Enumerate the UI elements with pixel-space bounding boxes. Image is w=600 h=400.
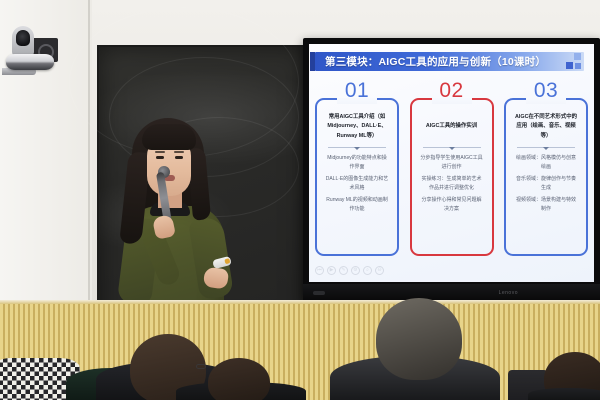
- play-icon[interactable]: ▶: [327, 266, 336, 275]
- card-bullet-list: 分步指导学生使用AIGC工具进行创作 实操练习：生成简单的艺术作品并进行调整优化…: [417, 154, 487, 215]
- card-title: 常用AIGC工具介绍（如Midjourney、DALL·E、Runway ML等…: [322, 112, 392, 142]
- ptz-camera-icon: [2, 24, 64, 72]
- card-bullet: 分步指导学生使用AIGC工具进行创作: [420, 154, 484, 173]
- card-title: AIGC工具的操作实训: [417, 112, 487, 142]
- card-bullet: Midjourney的功能特点和操作界面: [325, 154, 389, 173]
- card-bullet: 绘画领域：风格模仿与创意绘画: [514, 154, 578, 173]
- display-screen: 第三模块：AIGC工具的应用与创新（10课时） 01 常用AIGC工具介绍（如M…: [303, 38, 600, 300]
- presenter-fringe: [142, 124, 196, 150]
- gear-icon[interactable]: ⚙: [351, 266, 360, 275]
- card-divider: [328, 147, 386, 148]
- title-decoration-squares: [566, 53, 582, 70]
- slide-card-02: 02 AIGC工具的操作实训 分步指导学生使用AIGC工具进行创作 实操练习：生…: [410, 98, 494, 256]
- presenter-eyebrow: [155, 151, 165, 153]
- card-number: 02: [439, 80, 463, 101]
- card-bullet: Runway ML的视频和动画制作功能: [325, 196, 389, 215]
- classroom-scene: 第三模块：AIGC工具的应用与创新（10课时） 01 常用AIGC工具介绍（如M…: [0, 0, 600, 400]
- previous-icon[interactable]: ⏮: [315, 266, 324, 275]
- audience-member-shoulders: [528, 388, 600, 400]
- card-number: 03: [534, 80, 558, 101]
- slide-card-03: 03 AIGC在不同艺术形式中的应用（绘画、音乐、视频等） 绘画领域：风格模仿与…: [504, 98, 588, 256]
- camera-body: [6, 54, 54, 70]
- slide-title-bar: 第三模块：AIGC工具的应用与创新（10课时）: [315, 52, 584, 71]
- slide-title: 第三模块：AIGC工具的应用与创新（10课时）: [325, 54, 546, 69]
- zoom-out-icon[interactable]: ⊖: [375, 266, 384, 275]
- audience-glasses-icon: [196, 364, 206, 369]
- presenter-eye: [175, 156, 183, 159]
- slide-cards-row: 01 常用AIGC工具介绍（如Midjourney、DALL·E、Runway …: [315, 86, 588, 256]
- card-bullet: 视频领域：场景构建与特效制作: [514, 196, 578, 215]
- card-bullet: 音乐领域：旋律创作与节奏生成: [514, 175, 578, 194]
- camera-lens-icon: [12, 26, 34, 56]
- slide-card-01: 01 常用AIGC工具介绍（如Midjourney、DALL·E、Runway …: [315, 98, 399, 256]
- card-bullet-list: 绘画领域：风格模仿与创意绘画 音乐领域：旋律创作与节奏生成 视频领域：场景构建与…: [511, 154, 581, 215]
- presenter-eye: [156, 156, 164, 159]
- ir-receiver: [313, 291, 325, 295]
- audience-member-head: [208, 358, 270, 400]
- zoom-in-icon[interactable]: ⌕: [363, 266, 372, 275]
- card-number: 01: [345, 80, 369, 101]
- slide-player-toolbar[interactable]: ⏮ ▶ ✎ ⚙ ⌕ ⊖: [315, 266, 384, 275]
- card-bullet-list: Midjourney的功能特点和操作界面 DALL·E的图像生成能力和艺术风格 …: [322, 154, 392, 215]
- card-bullet: 实操练习：生成简单的艺术作品并进行调整优化: [420, 175, 484, 194]
- presentation-slide: 第三模块：AIGC工具的应用与创新（10课时） 01 常用AIGC工具介绍（如M…: [309, 44, 594, 282]
- card-bullet: 分享操作心得和常见问题解决方案: [420, 196, 484, 215]
- card-divider: [517, 147, 575, 148]
- card-divider: [423, 147, 481, 148]
- card-bullet: DALL·E的图像生成能力和艺术风格: [325, 175, 389, 194]
- audience-row: [0, 296, 600, 400]
- audience-member-head: [376, 298, 462, 380]
- pen-icon[interactable]: ✎: [339, 266, 348, 275]
- card-title: AIGC在不同艺术形式中的应用（绘画、音乐、视频等）: [511, 112, 581, 142]
- presenter-eyebrow: [174, 151, 184, 153]
